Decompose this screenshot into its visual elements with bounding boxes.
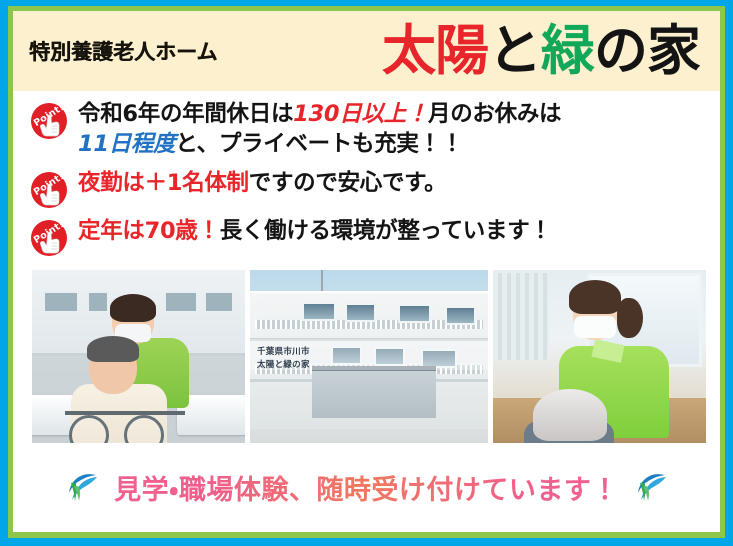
photo3-caregiver-ponytail (617, 298, 643, 338)
photo2-window (345, 303, 376, 322)
point-badge-icon: Point! (29, 218, 69, 258)
p1l1-seg2: 130日以上！ (293, 101, 428, 127)
title-part-to: と (488, 19, 541, 82)
photo3-curtain (493, 273, 548, 360)
p2-seg1: 夜勤は＋1名体制 (78, 170, 249, 196)
photo2-window (445, 306, 476, 325)
point-badge-icon: Point! (29, 170, 69, 210)
poster-sheet: 特別養護老人ホーム 太陽と緑の家 Point! 令和6年の年間休日は130日以上… (13, 11, 720, 532)
pointing-hand-icon (39, 114, 61, 137)
photo-row: 千葉県市川市 太陽と緑の家 (13, 266, 720, 443)
photo2-window (398, 304, 431, 323)
point-text-1-line-2: 11日程度と、プライベートも充実！！ (78, 130, 710, 160)
bottom-banner: 見学・職場体験、随時受け付けています！ (13, 443, 720, 532)
title-part-midori: 緑 (541, 19, 594, 82)
facility-type-label: 特別養護老人ホーム (29, 36, 217, 66)
photo3-caregiver-hair (569, 280, 621, 314)
photo3-resident-hair (533, 389, 607, 441)
p2-seg2: ですので安心です。 (249, 170, 447, 196)
photo2-caption-line1: 千葉県市川市 (257, 346, 310, 359)
photo-caregiver-assisting-resident-indoors (493, 270, 706, 443)
leaf-sprout-icon (633, 470, 669, 504)
point-text-3: 定年は70歳！長く働ける環境が整っています！ (78, 216, 710, 247)
pointing-hand-icon (39, 183, 61, 206)
point-badge-icon: Point! (29, 101, 69, 141)
photo2-window (302, 302, 335, 321)
title-part-taiyou: 太陽 (382, 19, 488, 82)
p1l2-seg2: と、プライベートも充実！！ (175, 131, 463, 157)
title-part-noie: の家 (594, 19, 700, 82)
photo2-caption: 千葉県市川市 太陽と緑の家 (257, 346, 310, 372)
photo1-resident-hair (87, 336, 139, 362)
pointing-hand-icon (39, 231, 61, 254)
photo3-caregiver-mask (574, 316, 616, 338)
photo2-entrance-canopy (312, 366, 436, 418)
photo-caregiver-with-resident-outdoors (32, 270, 245, 443)
photo1-window (43, 291, 79, 313)
photo-facility-exterior: 千葉県市川市 太陽と緑の家 (250, 270, 488, 443)
page-title: 太陽と緑の家 (217, 24, 706, 78)
p1l1-seg1: 令和6年の年間休日は (78, 101, 293, 127)
photo2-window (259, 300, 263, 319)
point-text-1-line-1: 令和6年の年間休日は130日以上！月のお休みは (78, 100, 710, 130)
recruitment-poster: 特別養護老人ホーム 太陽と緑の家 Point! 令和6年の年間休日は130日以上… (0, 0, 733, 546)
leaf-sprout-icon (64, 470, 100, 504)
photo1-caregiver-hair (110, 294, 156, 322)
p3-seg1: 定年は70歳！ (78, 218, 220, 244)
photo1-caregiver (104, 298, 202, 443)
p1l2-seg1: 11日程度 (78, 131, 175, 157)
photo3-caregiver (557, 280, 676, 443)
point-text-1: 令和6年の年間休日は130日以上！月のお休みは 11日程度と、プライベートも充実… (78, 99, 710, 160)
points-list: Point! 令和6年の年間休日は130日以上！月のお休みは 11日程度と、プラ… (13, 91, 720, 266)
photo1-window (204, 291, 234, 313)
p1l1-seg3: 月のお休みは (428, 101, 561, 127)
point-text-2: 夜勤は＋1名体制ですので安心です。 (78, 168, 710, 199)
point-item-2: Point! 夜勤は＋1名体制ですので安心です。 (29, 168, 710, 210)
point-item-3: Point! 定年は70歳！長く働ける環境が整っています！ (29, 216, 710, 258)
photo2-caption-line2: 太陽と緑の家 (257, 359, 310, 372)
p3-seg2: 長く働ける環境が整っています！ (220, 218, 552, 244)
banner-message: 見学・職場体験、随時受け付けています！ (114, 468, 619, 507)
poster-inner-border: 特別養護老人ホーム 太陽と緑の家 Point! 令和6年の年間休日は130日以上… (8, 6, 725, 538)
poster-header: 特別養護老人ホーム 太陽と緑の家 (13, 11, 720, 91)
point-item-1: Point! 令和6年の年間休日は130日以上！月のお休みは 11日程度と、プラ… (29, 99, 710, 160)
